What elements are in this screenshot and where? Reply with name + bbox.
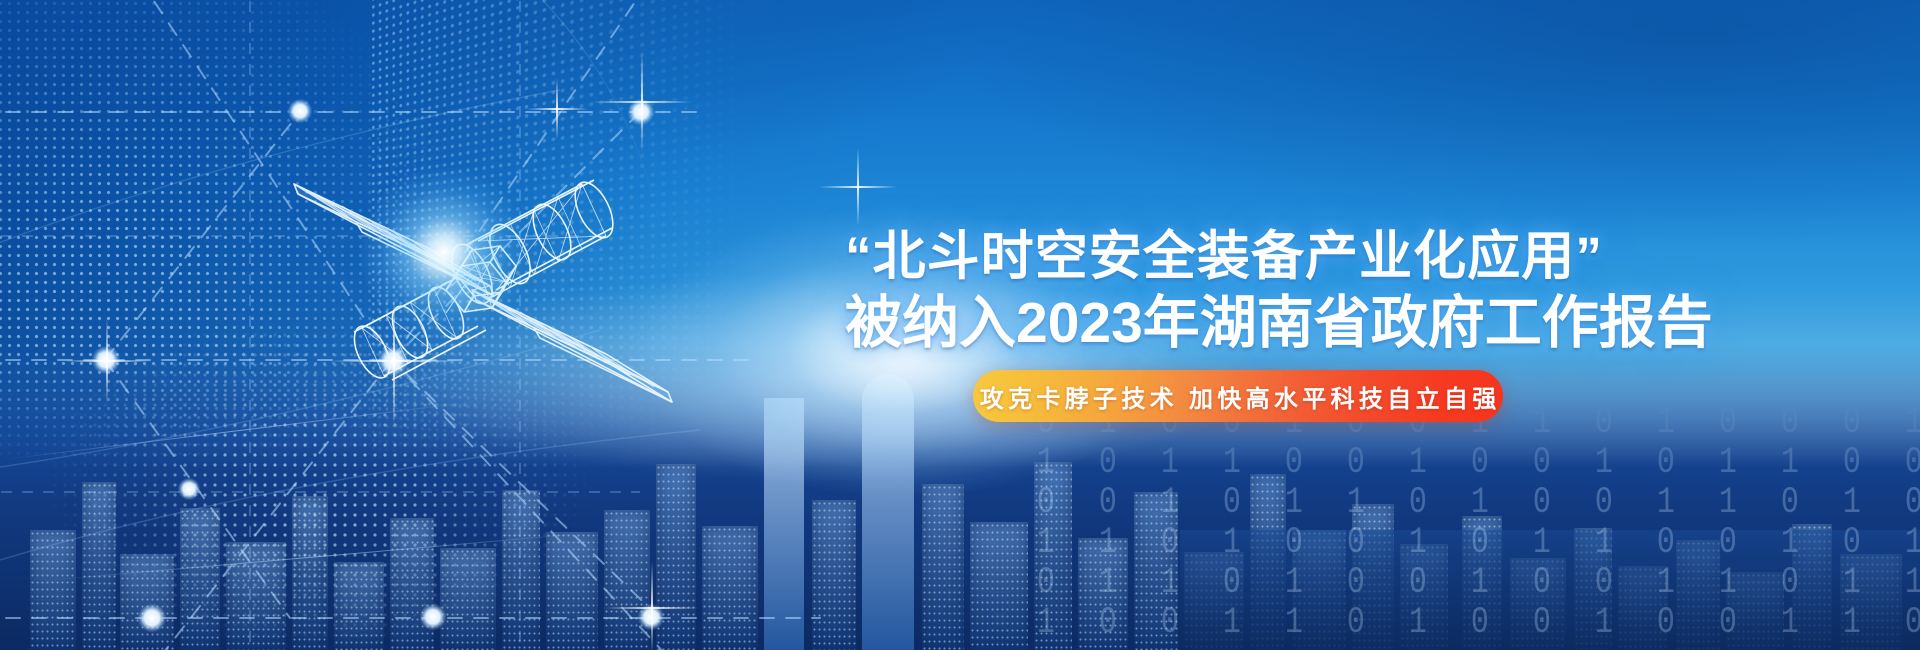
star-sparkle (857, 148, 859, 226)
slogan-pill-label: 攻克卡脖子技术 加快高水平科技自立自强 (975, 379, 1500, 414)
headline-line-1: “北斗时空安全装备产业化应用” (845, 228, 1545, 286)
slogan-pill-wrapper: 攻克卡脖子技术 加快高水平科技自立自强 (973, 370, 1503, 422)
star-sparkle (556, 78, 558, 140)
network-node (178, 478, 200, 500)
satellite-wireframe-icon (276, 140, 706, 410)
headline-line-2: 被纳入2023年湖南省政府工作报告 (845, 292, 1545, 354)
network-node (138, 604, 166, 632)
headline-block: “北斗时空安全装备产业化应用” 被纳入2023年湖南省政府工作报告 (845, 228, 1545, 354)
hero-banner: 0 1 0 0 1 0 0 1 1 0 1 0 0 0 1 1 0 1 0 0 … (0, 0, 1920, 650)
slogan-pill[interactable]: 攻克卡脖子技术 加快高水平科技自立自强 (973, 370, 1503, 422)
network-node (420, 604, 446, 630)
star-sparkle (641, 52, 643, 152)
network-node (288, 99, 312, 123)
star-sparkle (106, 318, 108, 404)
star-sparkle (651, 562, 653, 650)
